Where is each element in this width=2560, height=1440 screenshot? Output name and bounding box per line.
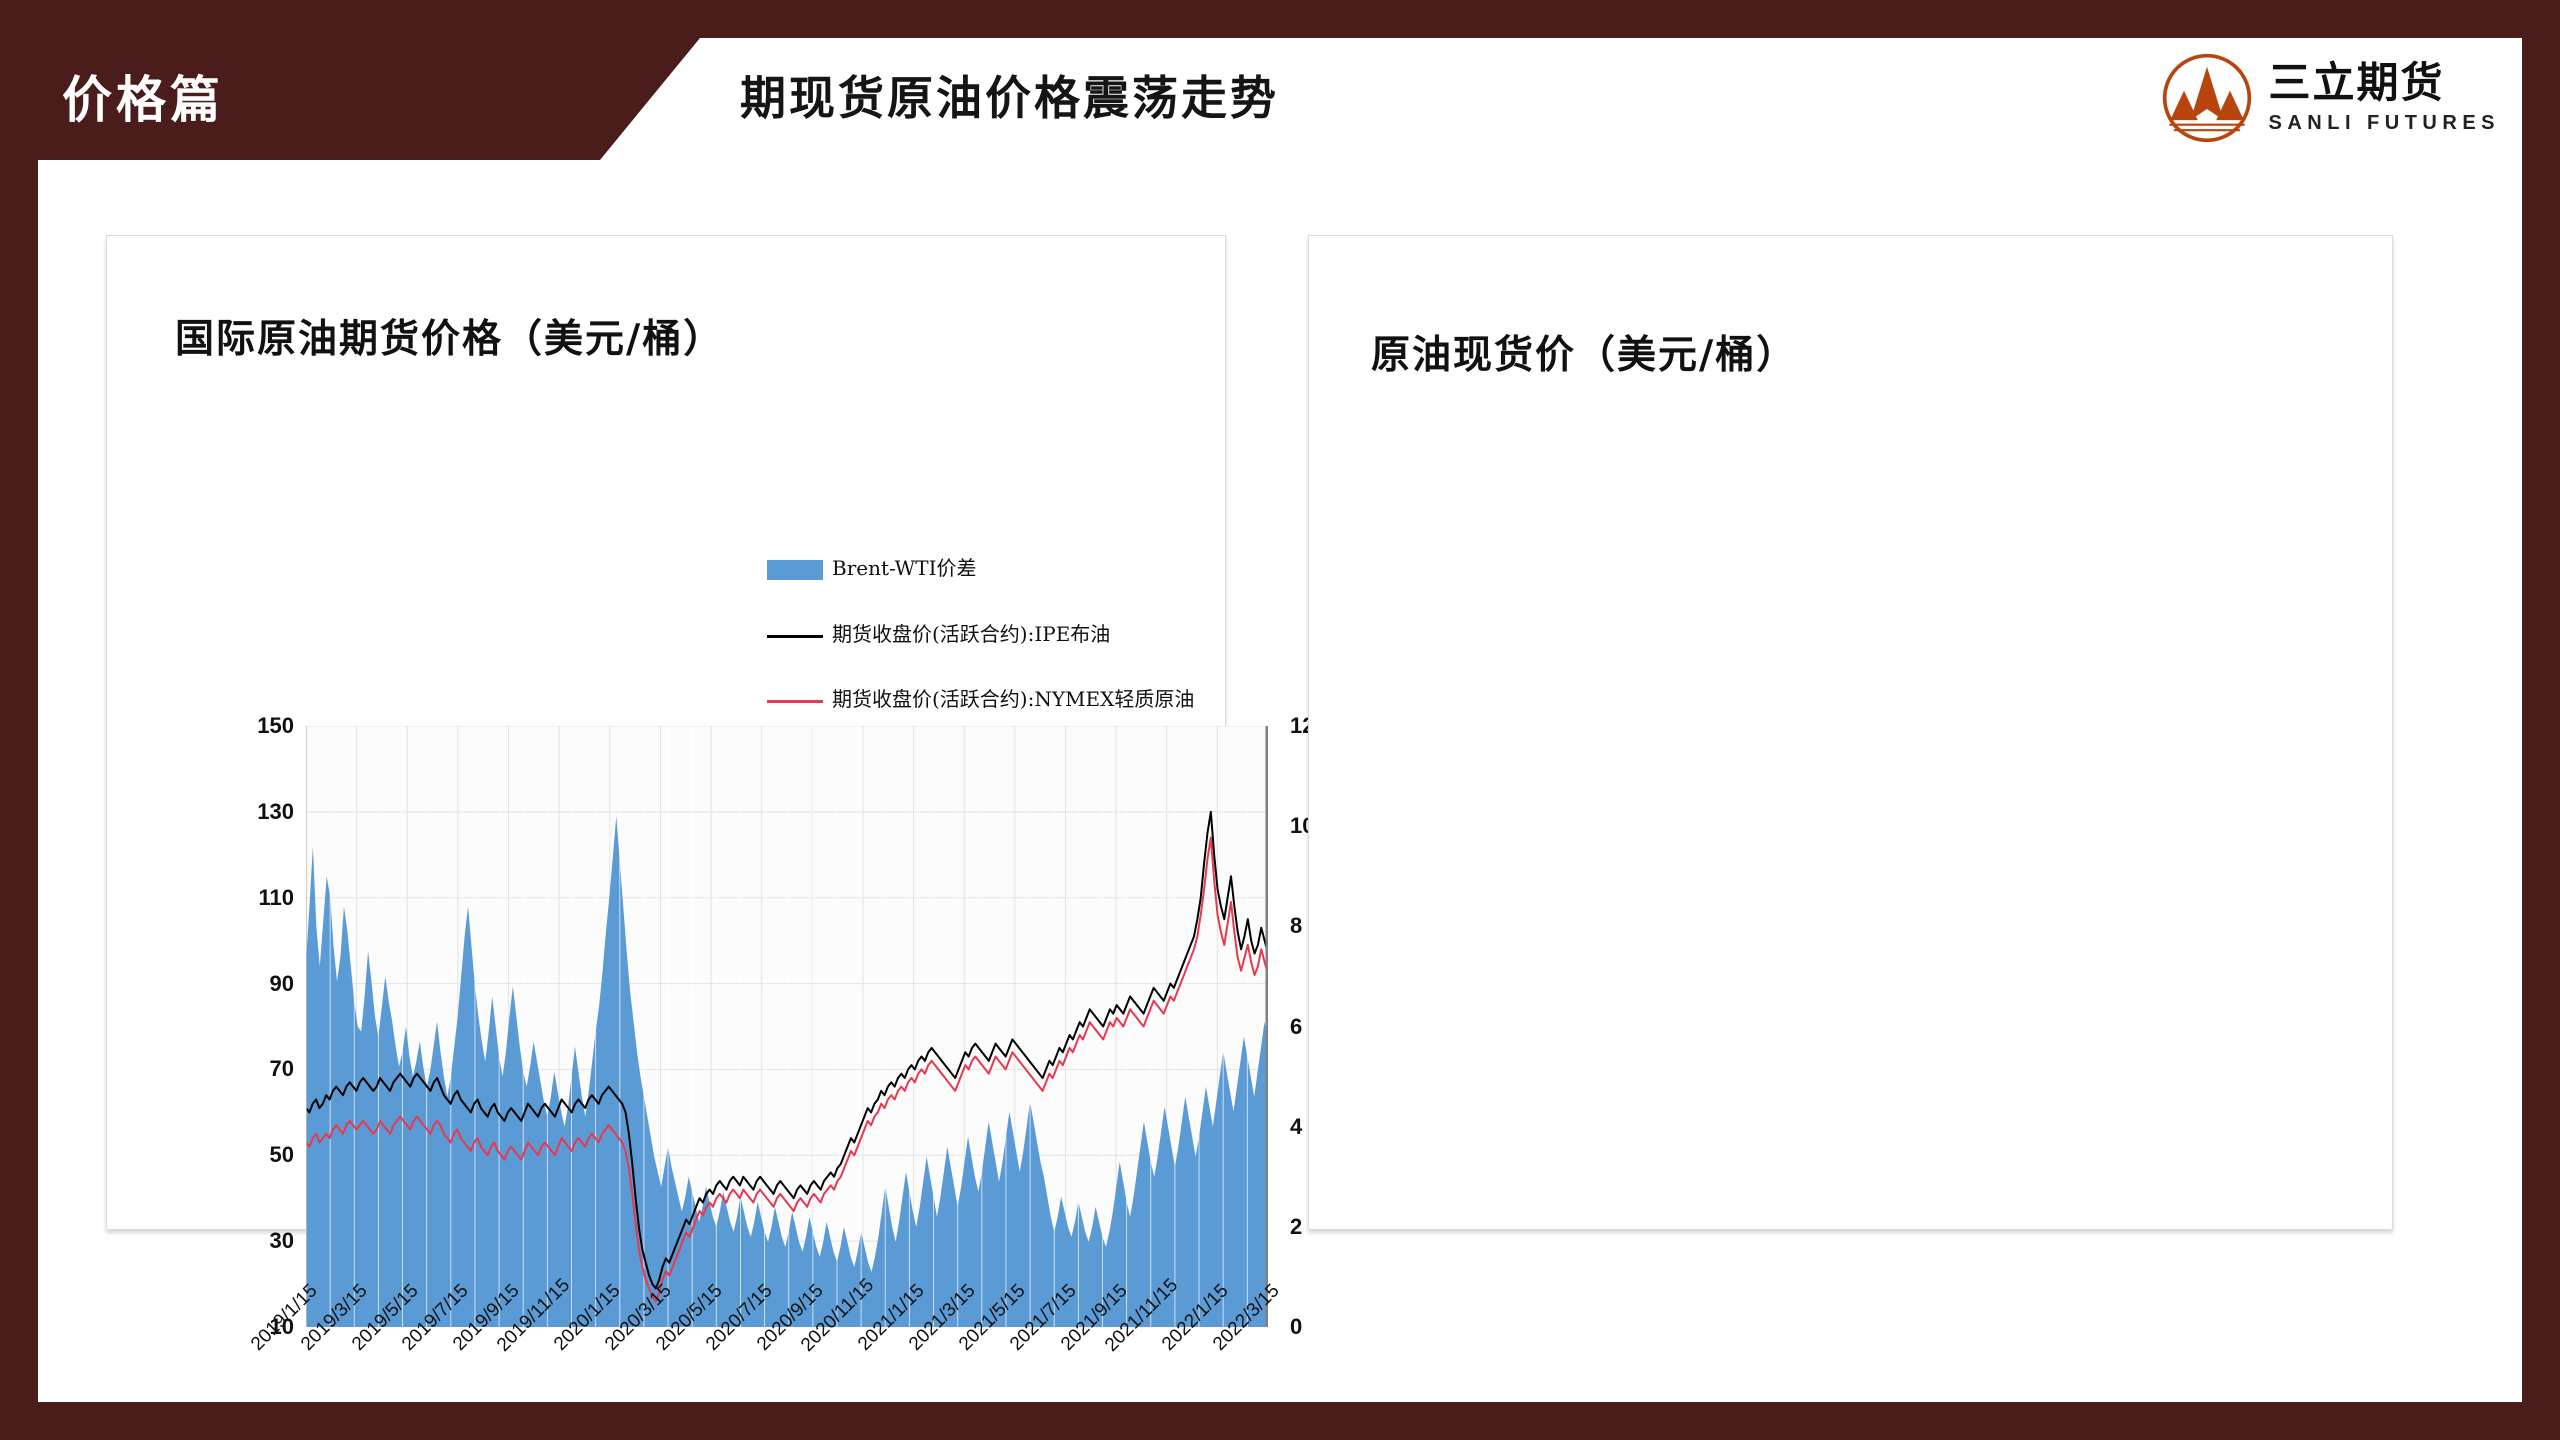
legend-swatch-icon (767, 560, 823, 580)
y-axis-tick-label: 90 (228, 971, 294, 997)
y2-axis-tick-label: 4 (1290, 1114, 1302, 1140)
legend-label: Brent-WTI价差 (832, 556, 976, 582)
logo-company-name-cn: 三立期货 (2269, 61, 2501, 105)
legend-label: 期货收盘价(活跃合约):IPE布油 (832, 622, 1110, 648)
legend-swatch-icon (767, 700, 823, 703)
y2-axis-tick-label: 8 (1290, 913, 1302, 939)
sanli-mountain-logo-icon (2161, 52, 2253, 144)
futures-chart-title: 国际原油期货价格（美元/桶） (175, 308, 724, 364)
y2-axis-tick-label: 6 (1290, 1014, 1302, 1040)
logo-company-name-en: SANLI FUTURES (2269, 112, 2501, 135)
legend-label: 期货收盘价(活跃合约):NYMEX轻质原油 (832, 687, 1194, 713)
logo-text-block: 三立期货 SANLI FUTURES (2269, 61, 2501, 134)
y-axis-tick-label: 130 (228, 799, 294, 825)
futures-chart-legend: Brent-WTI价差期货收盘价(活跃合约):IPE布油期货收盘价(活跃合约):… (767, 556, 1194, 753)
y-axis-tick-label: 70 (228, 1056, 294, 1082)
slide-canvas: 价格篇 期现货原油价格震荡走势 三立期货 SANLI FUTURES 国际原油期… (0, 0, 2560, 1440)
crude-futures-svg (306, 726, 1268, 1327)
y-axis-tick-label: 110 (228, 885, 294, 911)
chapter-label: 价格篇 (62, 60, 224, 132)
legend-swatch-icon (767, 635, 823, 638)
legend-item: Brent-WTI价差 (767, 556, 1194, 582)
company-logo: 三立期货 SANLI FUTURES (2161, 52, 2501, 144)
page-title: 期现货原油价格震荡走势 (740, 62, 1279, 128)
futures-plot-area: 10305070901101301500246810122019/1/15201… (306, 726, 1268, 1327)
slide-header: 价格篇 期现货原油价格震荡走势 三立期货 SANLI FUTURES (0, 0, 2560, 160)
spot-chart-title: 原油现货价（美元/桶） (1371, 324, 1797, 380)
y-axis-tick-label: 50 (228, 1142, 294, 1168)
spot-chart-panel: 原油现货价（美元/桶） 现货价:原油(阿曼):环太平洋现货价:原油(迪拜):中东… (1308, 235, 2393, 1230)
y-axis-tick-label: 150 (228, 713, 294, 739)
y2-axis-tick-label: 0 (1290, 1314, 1302, 1340)
futures-chart-panel: 国际原油期货价格（美元/桶） Brent-WTI价差期货收盘价(活跃合约):IP… (106, 235, 1226, 1230)
y-axis-tick-label: 30 (228, 1228, 294, 1254)
legend-item: 期货收盘价(活跃合约):IPE布油 (767, 622, 1194, 648)
y2-axis-tick-label: 2 (1290, 1214, 1302, 1240)
legend-item: 期货收盘价(活跃合约):NYMEX轻质原油 (767, 687, 1194, 713)
